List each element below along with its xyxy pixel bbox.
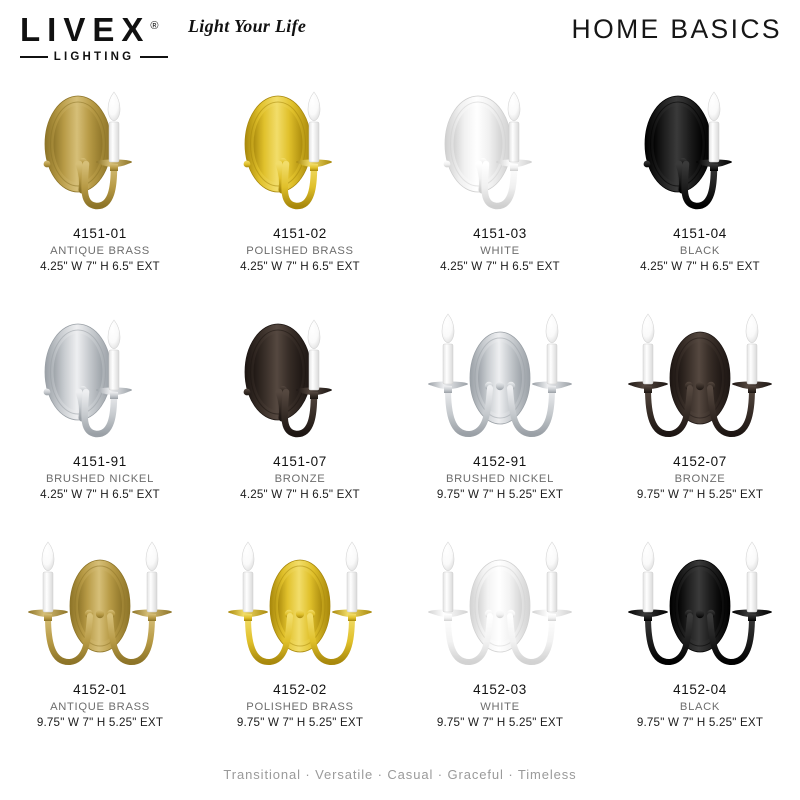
product-grid: 4151-01ANTIQUE BRASS4.25" W 7" H 6.5" EX… <box>0 72 800 754</box>
product-labels: 4151-01ANTIQUE BRASS4.25" W 7" H 6.5" EX… <box>0 226 200 273</box>
product-sku: 4152-04 <box>600 682 800 697</box>
product-cell[interactable]: 4152-91BRUSHED NICKEL9.75" W 7" H 5.25" … <box>400 300 600 528</box>
product-sku: 4151-02 <box>200 226 400 241</box>
product-labels: 4151-91BRUSHED NICKEL4.25" W 7" H 6.5" E… <box>0 454 200 501</box>
footer-tagline: Transitional · Versatile · Casual · Grac… <box>0 767 800 782</box>
product-labels: 4152-03WHITE9.75" W 7" H 5.25" EXT <box>400 682 600 729</box>
product-finish: BLACK <box>600 245 800 257</box>
rule-right-divider <box>140 56 168 58</box>
wall-sconce-2-light-icon <box>0 528 200 680</box>
product-dimensions: 9.75" W 7" H 5.25" EXT <box>200 716 400 729</box>
product-finish: POLISHED BRASS <box>200 701 400 713</box>
wall-sconce-2-light-illustration <box>200 528 400 678</box>
product-sku: 4151-91 <box>0 454 200 469</box>
product-labels: 4152-07BRONZE9.75" W 7" H 5.25" EXT <box>600 454 800 501</box>
product-sku: 4152-07 <box>600 454 800 469</box>
product-dimensions: 4.25" W 7" H 6.5" EXT <box>600 260 800 273</box>
wall-sconce-2-light-illustration <box>0 528 200 678</box>
product-dimensions: 9.75" W 7" H 5.25" EXT <box>400 716 600 729</box>
product-finish: WHITE <box>400 245 600 257</box>
wall-sconce-2-light-icon <box>400 300 600 452</box>
wall-sconce-1-light-illustration <box>200 72 400 222</box>
wall-sconce-1-light-icon <box>0 72 200 224</box>
product-cell[interactable]: 4151-91BRUSHED NICKEL4.25" W 7" H 6.5" E… <box>0 300 200 528</box>
product-cell[interactable]: 4152-07BRONZE9.75" W 7" H 5.25" EXT <box>600 300 800 528</box>
wall-sconce-2-light-icon <box>600 528 800 680</box>
product-sku: 4151-07 <box>200 454 400 469</box>
product-dimensions: 9.75" W 7" H 5.25" EXT <box>600 716 800 729</box>
wall-sconce-2-light-illustration <box>600 528 800 678</box>
wall-sconce-2-light-icon <box>600 300 800 452</box>
wall-sconce-1-light-illustration <box>0 300 200 450</box>
brand-subtitle-row: LIGHTING <box>20 51 168 63</box>
product-labels: 4151-03WHITE4.25" W 7" H 6.5" EXT <box>400 226 600 273</box>
product-dimensions: 4.25" W 7" H 6.5" EXT <box>200 260 400 273</box>
product-finish: BRONZE <box>600 473 800 485</box>
rule-left-divider <box>20 56 48 58</box>
wall-sconce-1-light-illustration <box>400 72 600 222</box>
wall-sconce-1-light-icon <box>200 300 400 452</box>
product-finish: POLISHED BRASS <box>200 245 400 257</box>
product-sku: 4152-02 <box>200 682 400 697</box>
product-sku: 4152-91 <box>400 454 600 469</box>
brand-subtitle: LIGHTING <box>54 51 135 63</box>
product-labels: 4152-01ANTIQUE BRASS9.75" W 7" H 5.25" E… <box>0 682 200 729</box>
wall-sconce-1-light-illustration <box>200 300 400 450</box>
wall-sconce-2-light-illustration <box>400 300 600 450</box>
product-cell[interactable]: 4152-01ANTIQUE BRASS9.75" W 7" H 5.25" E… <box>0 528 200 756</box>
product-sku: 4151-04 <box>600 226 800 241</box>
product-dimensions: 4.25" W 7" H 6.5" EXT <box>400 260 600 273</box>
page-header: LIVEX® LIGHTING Light Your Life HOME BAS… <box>0 0 800 72</box>
product-finish: BLACK <box>600 701 800 713</box>
product-dimensions: 9.75" W 7" H 5.25" EXT <box>600 488 800 501</box>
collection-title: HOME BASICS <box>572 14 782 45</box>
product-dimensions: 9.75" W 7" H 5.25" EXT <box>0 716 200 729</box>
wall-sconce-1-light-illustration <box>600 72 800 222</box>
product-finish: ANTIQUE BRASS <box>0 701 200 713</box>
product-labels: 4152-02POLISHED BRASS9.75" W 7" H 5.25" … <box>200 682 400 729</box>
product-labels: 4151-02POLISHED BRASS4.25" W 7" H 6.5" E… <box>200 226 400 273</box>
product-cell[interactable]: 4151-07BRONZE4.25" W 7" H 6.5" EXT <box>200 300 400 528</box>
product-finish: BRONZE <box>200 473 400 485</box>
product-sku: 4151-01 <box>0 226 200 241</box>
product-cell[interactable]: 4151-04BLACK4.25" W 7" H 6.5" EXT <box>600 72 800 300</box>
product-dimensions: 9.75" W 7" H 5.25" EXT <box>400 488 600 501</box>
product-finish: BRUSHED NICKEL <box>400 473 600 485</box>
product-finish: WHITE <box>400 701 600 713</box>
product-finish: ANTIQUE BRASS <box>0 245 200 257</box>
product-cell[interactable]: 4152-03WHITE9.75" W 7" H 5.25" EXT <box>400 528 600 756</box>
catalog-page: LIVEX® LIGHTING Light Your Life HOME BAS… <box>0 0 800 800</box>
product-cell[interactable]: 4151-02POLISHED BRASS4.25" W 7" H 6.5" E… <box>200 72 400 300</box>
brand-name-text: LIVEX <box>20 11 150 48</box>
product-labels: 4152-91BRUSHED NICKEL9.75" W 7" H 5.25" … <box>400 454 600 501</box>
product-cell[interactable]: 4152-04BLACK9.75" W 7" H 5.25" EXT <box>600 528 800 756</box>
product-dimensions: 4.25" W 7" H 6.5" EXT <box>0 260 200 273</box>
product-sku: 4151-03 <box>400 226 600 241</box>
product-labels: 4151-04BLACK4.25" W 7" H 6.5" EXT <box>600 226 800 273</box>
wall-sconce-1-light-illustration <box>0 72 200 222</box>
product-sku: 4152-03 <box>400 682 600 697</box>
product-sku: 4152-01 <box>0 682 200 697</box>
wall-sconce-2-light-illustration <box>600 300 800 450</box>
product-cell[interactable]: 4151-01ANTIQUE BRASS4.25" W 7" H 6.5" EX… <box>0 72 200 300</box>
registered-trademark-icon: ® <box>150 20 158 32</box>
product-dimensions: 4.25" W 7" H 6.5" EXT <box>200 488 400 501</box>
product-labels: 4152-04BLACK9.75" W 7" H 5.25" EXT <box>600 682 800 729</box>
livex-logo: LIVEX® LIGHTING <box>20 8 180 63</box>
wall-sconce-2-light-icon <box>200 528 400 680</box>
product-labels: 4151-07BRONZE4.25" W 7" H 6.5" EXT <box>200 454 400 501</box>
wall-sconce-1-light-icon <box>0 300 200 452</box>
wall-sconce-2-light-icon <box>400 528 600 680</box>
wall-sconce-1-light-icon <box>600 72 800 224</box>
wall-sconce-2-light-illustration <box>400 528 600 678</box>
brand-wordmark: LIVEX® <box>20 8 180 48</box>
wall-sconce-1-light-icon <box>400 72 600 224</box>
product-cell[interactable]: 4151-03WHITE4.25" W 7" H 6.5" EXT <box>400 72 600 300</box>
wall-sconce-1-light-icon <box>200 72 400 224</box>
product-cell[interactable]: 4152-02POLISHED BRASS9.75" W 7" H 5.25" … <box>200 528 400 756</box>
product-finish: BRUSHED NICKEL <box>0 473 200 485</box>
brand-tagline: Light Your Life <box>188 16 306 37</box>
product-dimensions: 4.25" W 7" H 6.5" EXT <box>0 488 200 501</box>
